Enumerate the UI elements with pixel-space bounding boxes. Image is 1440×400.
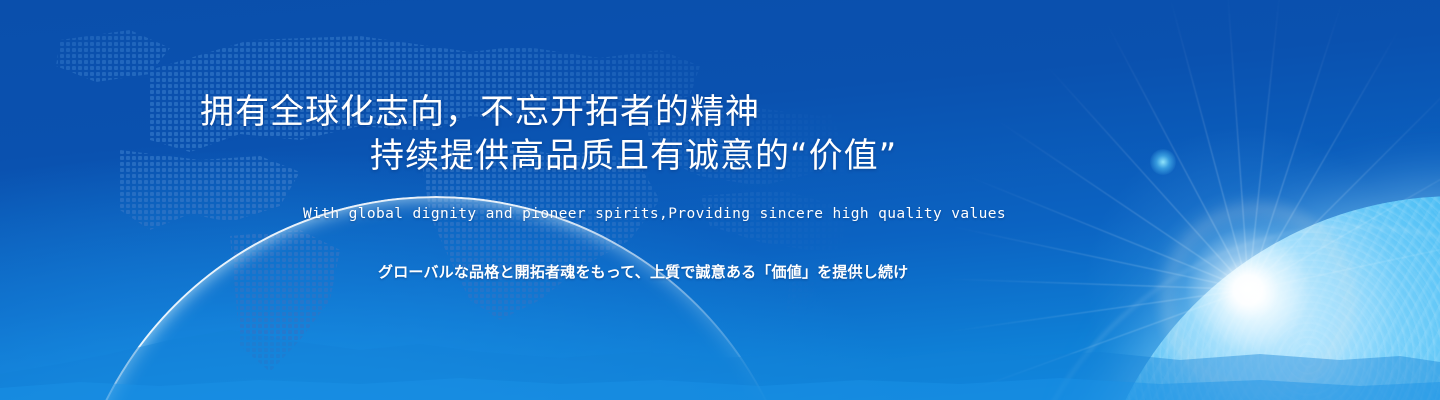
earth-planet-graphic — [1020, 0, 1440, 400]
headline-line-1: 拥有全球化志向，不忘开拓者的精神 — [200, 92, 760, 132]
planet-arc-highlight — [1020, 226, 1440, 400]
headline-line-2: 持续提供高品质且有诚意的“价值” — [200, 134, 897, 178]
banner-copy: 拥有全球化志向，不忘开拓者的精神 持续提供高品质且有诚意的“价值” With g… — [0, 0, 1040, 400]
lens-flare-dot-icon — [1150, 149, 1176, 175]
planet-body — [1086, 196, 1440, 400]
subtitle-english: With global dignity and pioneer spirits,… — [303, 206, 1006, 222]
headline: 拥有全球化志向，不忘开拓者的精神 持续提供高品质且有诚意的“价值” — [200, 90, 897, 178]
hero-banner: 拥有全球化志向，不忘开拓者的精神 持续提供高品质且有诚意的“价值” With g… — [0, 0, 1440, 400]
subtitle-japanese: グローバルな品格と開拓者魂をもって、上質で誠意ある「価値」を提供し続け — [378, 261, 908, 282]
planet-cloud-texture — [1086, 196, 1440, 400]
